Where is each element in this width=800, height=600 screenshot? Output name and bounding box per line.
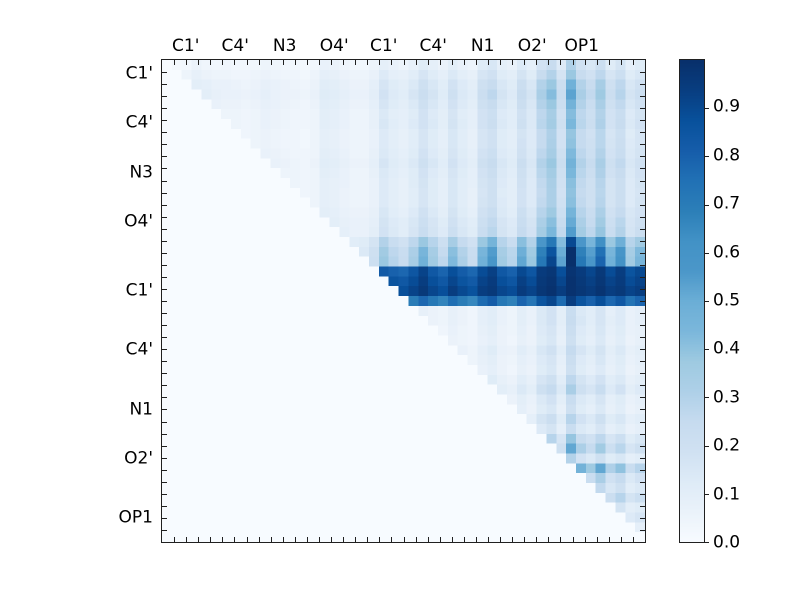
x-tick-minor bbox=[271, 537, 272, 542]
x-tick-minor bbox=[174, 60, 175, 65]
colorbar-tick-label: 0.1 bbox=[713, 486, 740, 503]
y-tick-label: N1 bbox=[129, 401, 153, 418]
x-tick-minor bbox=[186, 60, 187, 65]
y-tick-minor bbox=[640, 217, 645, 218]
y-tick-minor bbox=[640, 132, 645, 133]
y-tick-minor bbox=[162, 446, 167, 447]
y-tick-minor bbox=[162, 108, 167, 109]
y-tick-minor bbox=[640, 385, 645, 386]
y-tick-minor bbox=[640, 494, 645, 495]
colorbar-tick bbox=[704, 542, 709, 543]
x-tick-minor bbox=[247, 537, 248, 542]
y-tick-label: OP1 bbox=[119, 510, 153, 527]
colorbar-gradient bbox=[680, 60, 704, 542]
y-tick-label: N3 bbox=[129, 164, 153, 181]
y-tick-minor bbox=[162, 325, 167, 326]
colorbar-tick bbox=[704, 253, 709, 254]
y-tick-minor bbox=[162, 409, 167, 410]
y-tick-minor bbox=[640, 373, 645, 374]
x-tick-minor bbox=[307, 60, 308, 65]
x-tick-minor bbox=[343, 60, 344, 65]
y-tick-minor bbox=[640, 253, 645, 254]
colorbar-tick-label: 0.9 bbox=[713, 99, 740, 116]
y-tick-minor bbox=[640, 241, 645, 242]
y-tick-minor bbox=[640, 482, 645, 483]
y-tick-minor bbox=[162, 156, 167, 157]
y-tick-minor bbox=[640, 229, 645, 230]
y-tick-minor bbox=[640, 530, 645, 531]
y-tick-minor bbox=[162, 132, 167, 133]
x-tick-minor bbox=[524, 60, 525, 65]
x-tick-minor bbox=[452, 537, 453, 542]
heatmap-axes[interactable] bbox=[161, 59, 646, 543]
x-tick-minor bbox=[198, 537, 199, 542]
x-tick-minor bbox=[548, 60, 549, 65]
y-tick-minor bbox=[640, 422, 645, 423]
y-tick-minor bbox=[162, 494, 167, 495]
colorbar-tick bbox=[704, 108, 709, 109]
y-tick-minor bbox=[162, 181, 167, 182]
x-tick-minor bbox=[512, 537, 513, 542]
x-tick-minor bbox=[404, 60, 405, 65]
y-tick-minor bbox=[162, 506, 167, 507]
x-tick-label: O2' bbox=[518, 38, 547, 55]
y-tick-minor bbox=[640, 72, 645, 73]
y-tick-minor bbox=[162, 84, 167, 85]
x-tick-label: OP1 bbox=[564, 38, 598, 55]
y-tick-minor bbox=[640, 409, 645, 410]
x-tick-minor bbox=[488, 60, 489, 65]
y-tick-minor bbox=[162, 458, 167, 459]
y-tick-minor bbox=[162, 482, 167, 483]
y-tick-minor bbox=[640, 277, 645, 278]
x-tick-minor bbox=[440, 537, 441, 542]
x-tick-minor bbox=[391, 60, 392, 65]
x-tick-minor bbox=[500, 60, 501, 65]
x-tick-minor bbox=[524, 537, 525, 542]
colorbar-tick bbox=[704, 349, 709, 350]
x-tick-minor bbox=[621, 537, 622, 542]
y-tick-minor bbox=[162, 470, 167, 471]
y-tick-minor bbox=[162, 217, 167, 218]
x-tick-minor bbox=[319, 60, 320, 65]
colorbar-tick bbox=[704, 397, 709, 398]
x-tick-minor bbox=[573, 60, 574, 65]
y-tick-minor bbox=[640, 446, 645, 447]
x-tick-minor bbox=[234, 60, 235, 65]
x-tick-label: C1' bbox=[370, 38, 397, 55]
y-tick-minor bbox=[640, 518, 645, 519]
y-tick-minor bbox=[640, 349, 645, 350]
colorbar-tick-label: 0.7 bbox=[713, 196, 740, 213]
y-tick-minor bbox=[162, 349, 167, 350]
y-tick-minor bbox=[162, 253, 167, 254]
y-tick-label: O2' bbox=[124, 451, 153, 468]
x-tick-minor bbox=[355, 60, 356, 65]
x-tick-minor bbox=[222, 60, 223, 65]
y-tick-minor bbox=[162, 313, 167, 314]
x-tick-minor bbox=[609, 60, 610, 65]
colorbar[interactable] bbox=[679, 59, 705, 543]
x-tick-minor bbox=[271, 60, 272, 65]
y-tick-minor bbox=[162, 301, 167, 302]
y-tick-minor bbox=[640, 156, 645, 157]
colorbar-tick-label: 0.8 bbox=[713, 147, 740, 164]
y-tick-minor bbox=[640, 434, 645, 435]
y-tick-minor bbox=[162, 168, 167, 169]
x-tick-label: C4' bbox=[222, 38, 249, 55]
x-tick-minor bbox=[428, 60, 429, 65]
y-tick-minor bbox=[640, 470, 645, 471]
x-tick-minor bbox=[416, 60, 417, 65]
x-tick-minor bbox=[476, 60, 477, 65]
x-tick-label: N3 bbox=[273, 38, 297, 55]
x-tick-minor bbox=[464, 60, 465, 65]
x-tick-minor bbox=[391, 537, 392, 542]
y-tick-minor bbox=[640, 168, 645, 169]
x-tick-label: C1' bbox=[172, 38, 199, 55]
x-tick-minor bbox=[476, 537, 477, 542]
y-tick-minor bbox=[640, 181, 645, 182]
x-tick-minor bbox=[536, 537, 537, 542]
y-tick-label: C1' bbox=[126, 283, 153, 300]
x-tick-minor bbox=[452, 60, 453, 65]
x-tick-minor bbox=[234, 537, 235, 542]
colorbar-tick-label: 0.4 bbox=[713, 341, 740, 358]
figure-canvas: C1'C4'N3O4'C1'C4'N1O2'OP1 C1'C4'N3O4'C1'… bbox=[0, 0, 800, 600]
y-tick-minor bbox=[162, 144, 167, 145]
x-tick-minor bbox=[464, 537, 465, 542]
x-tick-minor bbox=[210, 60, 211, 65]
y-tick-minor bbox=[640, 325, 645, 326]
y-tick-minor bbox=[640, 108, 645, 109]
x-tick-minor bbox=[536, 60, 537, 65]
colorbar-tick bbox=[704, 156, 709, 157]
x-tick-minor bbox=[367, 537, 368, 542]
colorbar-tick-label: 0.5 bbox=[713, 293, 740, 310]
x-tick-minor bbox=[597, 537, 598, 542]
y-tick-minor bbox=[640, 397, 645, 398]
y-tick-minor bbox=[640, 265, 645, 266]
x-tick-minor bbox=[573, 537, 574, 542]
x-tick-minor bbox=[633, 60, 634, 65]
colorbar-tick-label: 0.0 bbox=[713, 535, 740, 552]
y-tick-minor bbox=[640, 205, 645, 206]
y-tick-minor bbox=[162, 229, 167, 230]
y-tick-minor bbox=[162, 241, 167, 242]
heatmap-image bbox=[162, 60, 645, 542]
colorbar-tick-label: 0.3 bbox=[713, 389, 740, 406]
x-tick-minor bbox=[548, 537, 549, 542]
x-tick-minor bbox=[597, 60, 598, 65]
y-tick-minor bbox=[162, 265, 167, 266]
y-tick-minor bbox=[640, 337, 645, 338]
x-tick-minor bbox=[186, 537, 187, 542]
y-tick-minor bbox=[640, 193, 645, 194]
x-tick-minor bbox=[307, 537, 308, 542]
y-tick-minor bbox=[640, 96, 645, 97]
x-tick-minor bbox=[331, 537, 332, 542]
y-tick-minor bbox=[162, 120, 167, 121]
y-tick-minor bbox=[640, 289, 645, 290]
x-tick-minor bbox=[331, 60, 332, 65]
x-tick-minor bbox=[440, 60, 441, 65]
x-tick-minor bbox=[379, 537, 380, 542]
x-tick-minor bbox=[247, 60, 248, 65]
y-tick-minor bbox=[162, 530, 167, 531]
y-tick-minor bbox=[162, 434, 167, 435]
y-tick-minor bbox=[162, 72, 167, 73]
x-tick-label: N1 bbox=[471, 38, 495, 55]
y-tick-minor bbox=[162, 96, 167, 97]
y-tick-minor bbox=[640, 144, 645, 145]
y-tick-label: O4' bbox=[124, 214, 153, 231]
y-tick-minor bbox=[640, 120, 645, 121]
x-tick-minor bbox=[585, 60, 586, 65]
colorbar-tick-label: 0.6 bbox=[713, 244, 740, 261]
x-tick-minor bbox=[319, 537, 320, 542]
x-tick-minor bbox=[283, 60, 284, 65]
x-tick-minor bbox=[416, 537, 417, 542]
y-tick-minor bbox=[162, 289, 167, 290]
y-tick-minor bbox=[162, 337, 167, 338]
x-tick-minor bbox=[621, 60, 622, 65]
y-tick-minor bbox=[162, 361, 167, 362]
y-tick-label: C4' bbox=[126, 342, 153, 359]
x-tick-minor bbox=[222, 537, 223, 542]
colorbar-tick-label: 0.2 bbox=[713, 438, 740, 455]
x-tick-label: C4' bbox=[420, 38, 447, 55]
y-tick-label: C4' bbox=[126, 115, 153, 132]
y-tick-minor bbox=[640, 301, 645, 302]
y-tick-minor bbox=[162, 193, 167, 194]
y-tick-minor bbox=[162, 385, 167, 386]
y-tick-minor bbox=[162, 373, 167, 374]
x-tick-minor bbox=[343, 537, 344, 542]
y-tick-minor bbox=[640, 84, 645, 85]
x-tick-minor bbox=[633, 537, 634, 542]
x-tick-minor bbox=[609, 537, 610, 542]
x-tick-minor bbox=[379, 60, 380, 65]
x-tick-minor bbox=[198, 60, 199, 65]
x-tick-minor bbox=[295, 537, 296, 542]
x-tick-minor bbox=[512, 60, 513, 65]
x-tick-minor bbox=[259, 60, 260, 65]
colorbar-tick bbox=[704, 494, 709, 495]
x-tick-minor bbox=[259, 537, 260, 542]
x-tick-label: O4' bbox=[320, 38, 349, 55]
x-tick-minor bbox=[355, 537, 356, 542]
x-tick-minor bbox=[428, 537, 429, 542]
x-tick-minor bbox=[210, 537, 211, 542]
y-tick-minor bbox=[640, 361, 645, 362]
y-tick-minor bbox=[162, 397, 167, 398]
x-tick-minor bbox=[585, 537, 586, 542]
x-tick-minor bbox=[283, 537, 284, 542]
x-tick-minor bbox=[500, 537, 501, 542]
y-tick-minor bbox=[640, 458, 645, 459]
y-tick-minor bbox=[640, 313, 645, 314]
y-tick-minor bbox=[162, 422, 167, 423]
y-tick-minor bbox=[162, 277, 167, 278]
y-tick-minor bbox=[162, 205, 167, 206]
y-tick-minor bbox=[640, 506, 645, 507]
colorbar-tick bbox=[704, 205, 709, 206]
x-tick-minor bbox=[560, 537, 561, 542]
x-tick-minor bbox=[174, 537, 175, 542]
x-tick-minor bbox=[404, 537, 405, 542]
x-tick-minor bbox=[295, 60, 296, 65]
x-tick-minor bbox=[560, 60, 561, 65]
x-tick-minor bbox=[488, 537, 489, 542]
y-tick-label: C1' bbox=[126, 65, 153, 82]
y-tick-minor bbox=[162, 518, 167, 519]
x-tick-minor bbox=[367, 60, 368, 65]
colorbar-tick bbox=[704, 301, 709, 302]
colorbar-tick bbox=[704, 446, 709, 447]
